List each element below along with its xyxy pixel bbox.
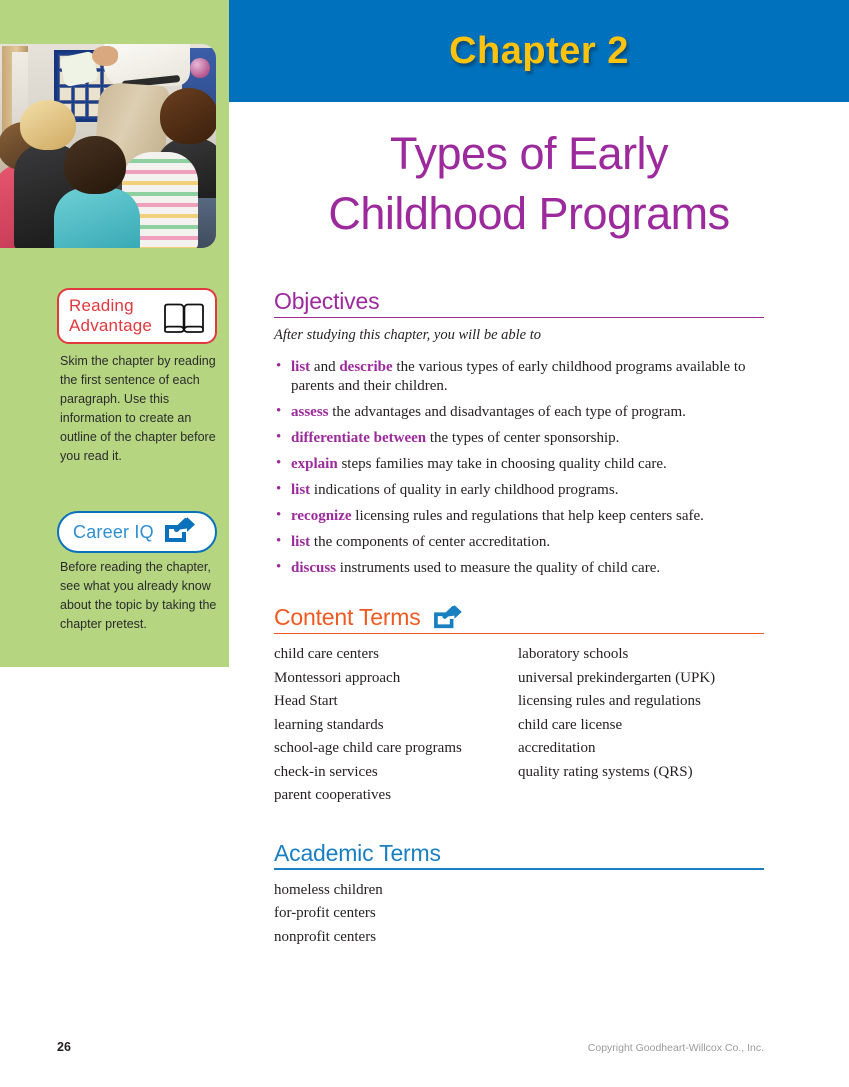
content-term: Montessori approach bbox=[274, 667, 518, 691]
reading-advantage-body: Skim the chapter by reading the first se… bbox=[60, 352, 220, 466]
content-column: Objectives After studying this chapter, … bbox=[274, 288, 764, 949]
content-term: child care centers bbox=[274, 643, 518, 667]
content-terms-column-left: child care centersMontessori approachHea… bbox=[274, 643, 518, 808]
objectives-intro: After studying this chapter, you will be… bbox=[274, 327, 764, 344]
academic-terms-rule bbox=[274, 868, 764, 870]
objective-item: list and describe the various types of e… bbox=[274, 358, 764, 396]
photo-wall-decal bbox=[190, 58, 210, 78]
content-terms-heading: Content Terms bbox=[274, 604, 764, 634]
external-link-arrow-icon bbox=[431, 604, 463, 631]
objective-item: explain steps families may take in choos… bbox=[274, 455, 764, 474]
reading-advantage-label: Reading Advantage bbox=[69, 296, 152, 336]
content-term: laboratory schools bbox=[518, 643, 764, 667]
chapter-number-label: Chapter 2 bbox=[229, 30, 849, 73]
classroom-scene bbox=[0, 44, 216, 248]
objective-verb: describe bbox=[339, 359, 392, 375]
content-term: accreditation bbox=[518, 737, 764, 761]
objective-item: differentiate between the types of cente… bbox=[274, 429, 764, 448]
objective-item: recognize licensing rules and regulation… bbox=[274, 507, 764, 526]
objective-verb: explain bbox=[291, 456, 338, 472]
content-terms-grid: child care centersMontessori approachHea… bbox=[274, 643, 764, 808]
content-terms-section: Content Terms child care centersMontesso… bbox=[274, 604, 764, 808]
chapter-banner: Chapter 2 bbox=[229, 0, 849, 102]
career-iq-body: Before reading the chapter, see what you… bbox=[60, 558, 220, 634]
page-title: Types of Early Childhood Programs bbox=[229, 124, 829, 244]
objective-verb: discuss bbox=[291, 560, 336, 576]
open-book-icon bbox=[163, 303, 205, 338]
content-term: universal prekindergarten (UPK) bbox=[518, 667, 764, 691]
photo-child bbox=[58, 136, 136, 248]
objectives-list: list and describe the various types of e… bbox=[274, 358, 764, 578]
career-iq-badge: Career IQ bbox=[57, 511, 217, 553]
objective-verb: list bbox=[291, 482, 310, 498]
content-terms-column-right: laboratory schoolsuniversal prekindergar… bbox=[518, 643, 764, 808]
external-link-arrow-icon bbox=[162, 517, 196, 548]
objective-item: list the components of center accreditat… bbox=[274, 533, 764, 552]
photo-teacher-hand bbox=[92, 46, 118, 66]
textbook-page: Reading Advantage Skim the chapter by re… bbox=[0, 0, 849, 1087]
objective-verb: list bbox=[291, 534, 310, 550]
objective-verb: list bbox=[291, 359, 310, 375]
content-term: licensing rules and regulations bbox=[518, 690, 764, 714]
reading-advantage-badge: Reading Advantage bbox=[57, 288, 217, 344]
objective-verb: assess bbox=[291, 404, 329, 420]
copyright-notice: Copyright Goodheart-Willcox Co., Inc. bbox=[588, 1042, 764, 1054]
content-term: Head Start bbox=[274, 690, 518, 714]
academic-terms-list: homeless childrenfor-profit centersnonpr… bbox=[274, 879, 764, 950]
page-title-line-1: Types of Early bbox=[229, 124, 829, 184]
objective-item: assess the advantages and disadvantages … bbox=[274, 403, 764, 422]
academic-term: nonprofit centers bbox=[274, 926, 764, 950]
academic-terms-heading: Academic Terms bbox=[274, 840, 764, 870]
page-title-line-2: Childhood Programs bbox=[229, 184, 829, 244]
content-terms-rule bbox=[274, 633, 764, 635]
academic-term: for-profit centers bbox=[274, 902, 764, 926]
content-terms-heading-text: Content Terms bbox=[274, 604, 421, 631]
content-term: check-in services bbox=[274, 761, 518, 785]
chapter-opener-photo bbox=[0, 44, 216, 248]
career-iq-label: Career IQ bbox=[73, 522, 154, 543]
content-term: school-age child care programs bbox=[274, 737, 518, 761]
objectives-rule bbox=[274, 317, 764, 319]
academic-term: homeless children bbox=[274, 879, 764, 903]
objective-item: list indications of quality in early chi… bbox=[274, 481, 764, 500]
content-term: parent cooperatives bbox=[274, 784, 518, 808]
objective-verb: differentiate between bbox=[291, 430, 426, 446]
objective-item: discuss instruments used to measure the … bbox=[274, 559, 764, 578]
content-term: child care license bbox=[518, 714, 764, 738]
objective-verb: recognize bbox=[291, 508, 352, 524]
academic-terms-heading-text: Academic Terms bbox=[274, 840, 441, 866]
objectives-heading: Objectives bbox=[274, 288, 764, 318]
page-number: 26 bbox=[57, 1040, 71, 1054]
content-term: quality rating systems (QRS) bbox=[518, 761, 764, 785]
academic-terms-section: Academic Terms homeless childrenfor-prof… bbox=[274, 840, 764, 950]
content-term: learning standards bbox=[274, 714, 518, 738]
objectives-heading-text: Objectives bbox=[274, 288, 379, 314]
